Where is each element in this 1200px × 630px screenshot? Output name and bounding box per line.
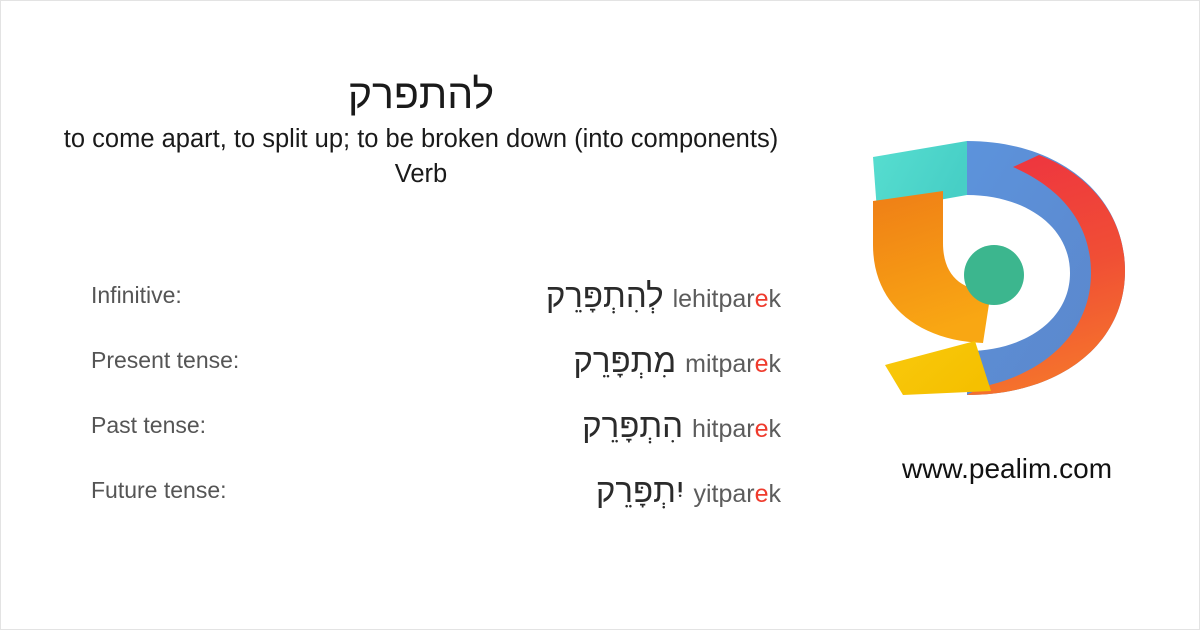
form-label-infinitive: Infinitive: (1, 282, 401, 309)
card-header: להתפרק to come apart, to split up; to be… (41, 69, 801, 191)
logo-green-dot (964, 245, 1024, 305)
form-label-past: Past tense: (1, 412, 401, 439)
form-value-past: הִתְפָּרֵקhitparek (401, 407, 801, 445)
translit-after: k (769, 480, 782, 508)
branding-column: www.pealim.com (841, 1, 1200, 630)
table-row: Past tense: הִתְפָּרֵקhitparek (1, 393, 801, 458)
transliteration-infinitive: lehitparek (673, 285, 781, 314)
translit-before: yitpar (693, 480, 754, 508)
form-value-infinitive: לְהִתְפָּרֵקlehitparek (401, 277, 801, 315)
conjugation-table: Infinitive: לְהִתְפָּרֵקlehitparek Prese… (1, 263, 801, 523)
verb-lemma: להתפרק (41, 69, 801, 119)
transliteration-future: yitparek (693, 480, 781, 509)
hebrew-form-past: הִתְפָּרֵק (582, 407, 683, 445)
translit-before: mitpar (685, 350, 754, 378)
translit-after: k (769, 285, 782, 313)
verb-translation: to come apart, to split up; to be broken… (41, 122, 801, 157)
table-row: Present tense: מִתְפָּרֵקmitparek (1, 328, 801, 393)
translit-after: k (769, 350, 782, 378)
transliteration-present: mitparek (685, 350, 781, 379)
form-value-present: מִתְפָּרֵקmitparek (401, 342, 801, 380)
part-of-speech: Verb (41, 157, 801, 191)
logo-yellow-segment (885, 341, 991, 395)
form-label-future: Future tense: (1, 477, 401, 504)
pealim-logo-icon (863, 133, 1133, 401)
table-row: Future tense: יִתְפָּרֵקyitparek (1, 458, 801, 523)
table-row: Infinitive: לְהִתְפָּרֵקlehitparek (1, 263, 801, 328)
translit-before: lehitpar (673, 285, 755, 313)
translit-stress: e (755, 480, 769, 508)
hebrew-form-infinitive: לְהִתְפָּרֵק (546, 277, 664, 315)
site-url: www.pealim.com (841, 453, 1173, 485)
verb-card: להתפרק to come apart, to split up; to be… (0, 0, 1200, 630)
translit-stress: e (755, 350, 769, 378)
main-column: להתפרק to come apart, to split up; to be… (1, 1, 841, 630)
hebrew-form-future: יִתְפָּרֵק (596, 472, 685, 510)
hebrew-form-present: מִתְפָּרֵק (573, 342, 676, 380)
translit-before: hitpar (692, 415, 755, 443)
transliteration-past: hitparek (692, 415, 781, 444)
form-value-future: יִתְפָּרֵקyitparek (401, 472, 801, 510)
translit-stress: e (755, 415, 769, 443)
translit-stress: e (755, 285, 769, 313)
translit-after: k (769, 415, 782, 443)
form-label-present: Present tense: (1, 347, 401, 374)
